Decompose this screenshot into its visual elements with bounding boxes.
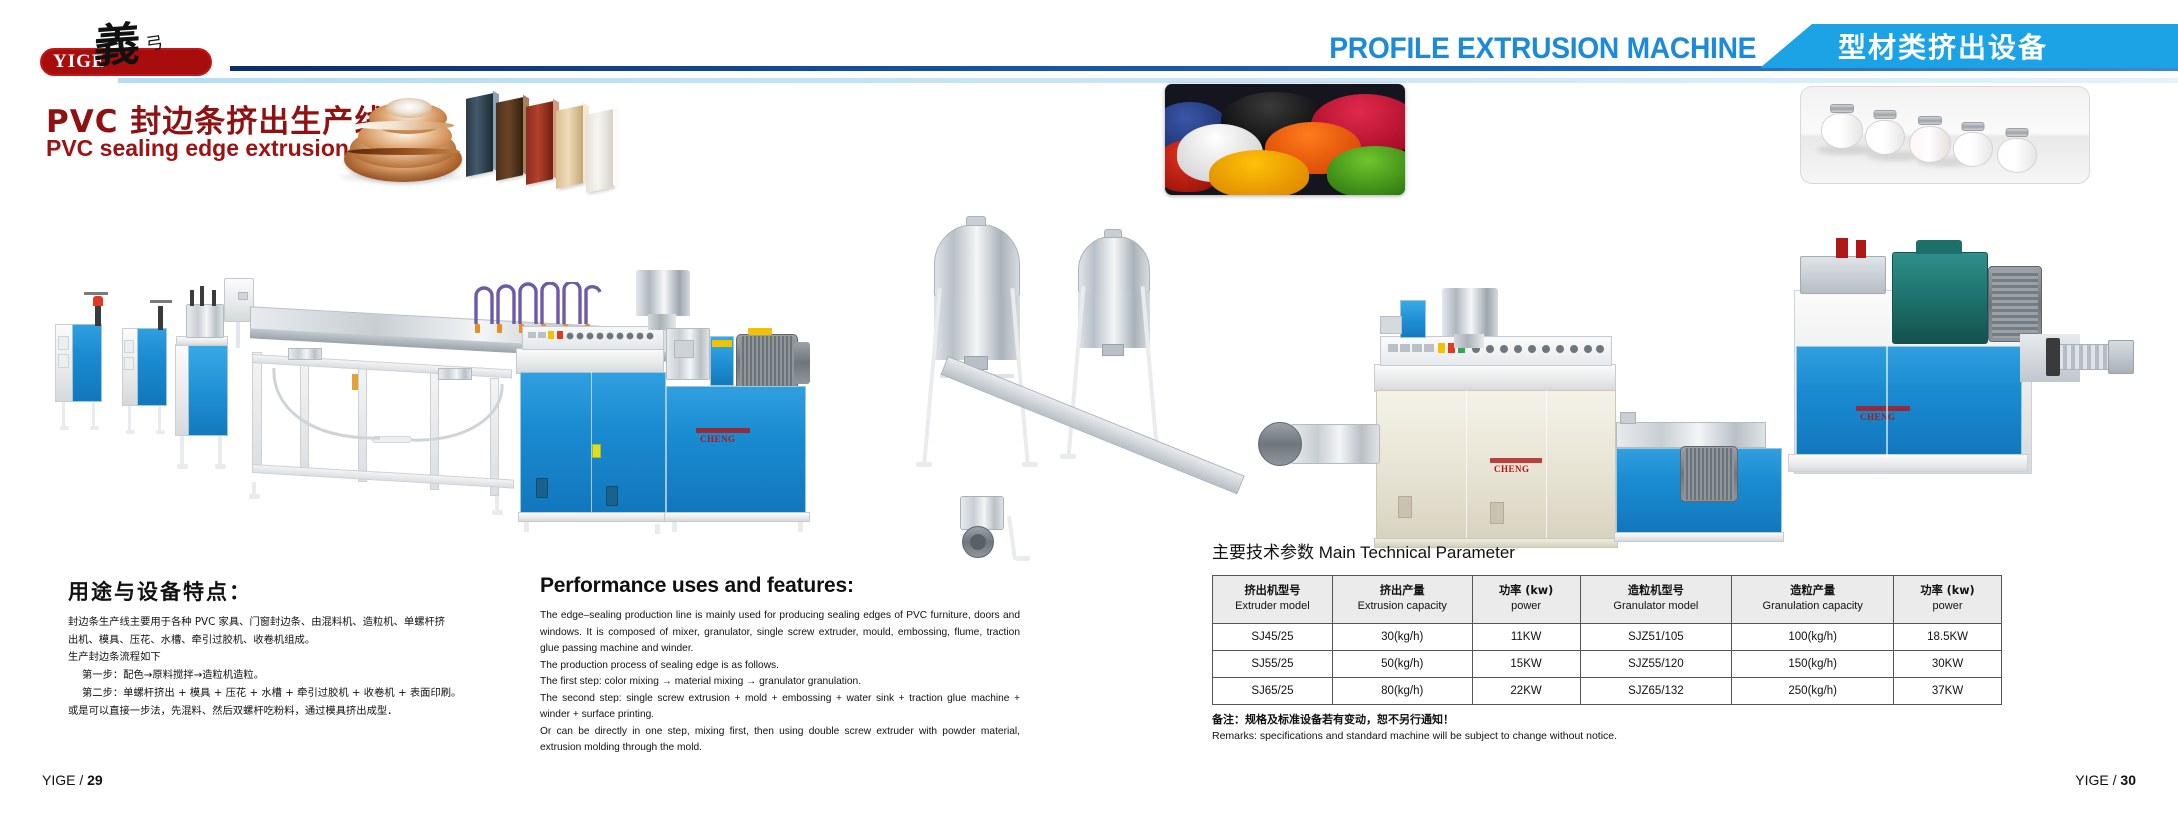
mixer-motor-fins <box>1992 270 2038 338</box>
extruder-feed-hopper <box>636 270 690 316</box>
silo-hopper-1-cone <box>934 296 1020 360</box>
pvc-edge-banding-rolls-and-boards-photo <box>336 88 646 193</box>
printing-roller-assembly <box>186 304 224 338</box>
uses-heading-chinese: 用途与设备特点： <box>68 576 518 606</box>
mixer-indicator-red-2 <box>1856 240 1866 258</box>
header-rule-light <box>118 78 2178 83</box>
header-category-tag-label: 型材类挤出设备 <box>1760 26 2048 66</box>
table-column-power-1: 功率 (kw)power <box>1472 576 1580 624</box>
uses-en-paragraph-3: The first step: color mixing → material … <box>540 674 1020 691</box>
cell-power-2: 18.5KW <box>1894 624 2002 651</box>
white-powder-jars-photo <box>1800 86 2090 184</box>
water-hose-left <box>268 366 388 450</box>
brand-mark-twin-screw: CHENG <box>1494 464 1530 474</box>
roller-shaft-3 <box>212 290 216 306</box>
mixer-motor-housing-teal <box>1892 252 1988 344</box>
cell-power-1: 15KW <box>1472 651 1580 678</box>
footer-left-brand: YIGE / <box>42 772 87 788</box>
roller-shaft-2 <box>200 286 204 306</box>
control-panel-knob-row <box>526 330 660 346</box>
twin-feeder-motor-box <box>1380 316 1402 334</box>
extruder-control-panel-top <box>516 348 664 374</box>
cell-granulator-model: SJZ65/132 <box>1580 678 1732 705</box>
flume-frame-leg-1 <box>252 352 262 470</box>
table-column-granulation-capacity: 造粒产量Granulation capacity <box>1732 576 1894 624</box>
twin-screw-feed-hopper <box>1442 288 1498 336</box>
roller-shaft-1 <box>190 290 194 306</box>
table-column-extrusion-capacity: 挤出产量Extrusion capacity <box>1332 576 1472 624</box>
table-row: SJ65/25 80(kg/h) 22KW SJZ65/132 250(kg/h… <box>1213 678 2002 705</box>
mixer-base-plinth <box>1788 454 2028 472</box>
twin-screw-panel-controls <box>1386 342 1606 362</box>
board-samples-group <box>466 96 638 184</box>
spec-title-english: Main Technical Parameter <box>1319 543 1515 562</box>
board-sample-1 <box>466 93 493 177</box>
pvc-sealing-edge-extrusion-production-line-illustration: CHENG <box>0 196 2178 541</box>
cabinet-vent-3 <box>124 340 134 353</box>
conveyor-drive-housing <box>960 496 1004 530</box>
logo-cjk-glyph: 義 <box>93 20 141 69</box>
company-logo: YIGE 義 弓 <box>40 28 260 78</box>
tower-lamp-post-2 <box>158 306 163 330</box>
twin-cabinet-door-split-2 <box>1546 390 1547 540</box>
mixer-discharge-bellows <box>2058 344 2110 370</box>
coupling-warning-stripe <box>712 340 732 347</box>
board-sample-5 <box>586 109 613 193</box>
cell-extrusion-capacity: 80(kg/h) <box>1332 678 1472 705</box>
footer-right-page-number: 30 <box>2120 772 2136 788</box>
cabinet-vent-4 <box>124 357 134 370</box>
lamp-crossbar-1 <box>84 292 108 295</box>
uses-cn-line-2: 出机、模具、压花、水槽、牵引过胶机、收卷机组成。 <box>68 632 518 650</box>
cell-granulation-capacity: 250(kg/h) <box>1732 678 1894 705</box>
silo-hopper-1-lid <box>966 216 986 226</box>
silo-hopper-2-cone <box>1078 292 1150 348</box>
silo-hopper-1-barrel <box>934 224 1020 298</box>
uses-body-chinese: 封边条生产线主要用于各种 PVC 家具、门窗封边条、由混料机、造粒机、单螺杆挤 … <box>68 614 518 720</box>
lamp-crossbar-2 <box>150 300 172 303</box>
board-sample-2 <box>496 97 523 181</box>
cell-power-2: 37KW <box>1894 678 2002 705</box>
tape-coil-core <box>386 98 432 118</box>
motor-nameplate <box>748 328 772 335</box>
remarks-block: 备注：规格及标准设备若有变动，恕不另行通知！ Remarks: specific… <box>1212 712 2042 744</box>
flume-frame-rail-bottom <box>252 464 514 489</box>
technical-parameter-section: 主要技术参数 Main Technical Parameter 挤出机型号Ext… <box>1212 538 2042 744</box>
footer-left-page-number: 29 <box>87 772 103 788</box>
table-column-granulator-model: 造粒机型号Granulator model <box>1580 576 1732 624</box>
cabinet-door-split <box>591 372 592 514</box>
twin-feeder-box <box>1400 300 1426 338</box>
remark-english: Remarks: specifications and standard mac… <box>1212 729 2042 745</box>
control-box-post <box>236 322 240 348</box>
brand-underline-1 <box>696 428 750 433</box>
cabinet-vent-2 <box>58 354 69 368</box>
twin-gearbox <box>1290 424 1380 464</box>
cell-granulation-capacity: 150(kg/h) <box>1732 651 1894 678</box>
cooling-pipe-loops-icon <box>470 282 606 324</box>
cell-extrusion-capacity: 50(kg/h) <box>1332 651 1472 678</box>
uses-en-paragraph-1: The edge–sealing production line is main… <box>540 608 1020 658</box>
mixer-discharge-clamp <box>2046 338 2060 376</box>
tape-strand-white <box>354 121 454 130</box>
twin-cabinet-door-split-1 <box>1466 390 1467 540</box>
cabinet-louvre-1 <box>536 478 548 498</box>
brand-mark-mixer: CHENG <box>1860 412 1896 422</box>
printing-unit-frame-left <box>175 344 189 436</box>
traction-roller-1 <box>288 348 322 360</box>
cell-granulator-model: SJZ51/105 <box>1580 624 1732 651</box>
embossing-unit-cooling-pipes <box>470 282 606 324</box>
twin-hopper-throat <box>1454 334 1484 348</box>
traction-roller-2 <box>438 368 472 380</box>
lower-content: 用途与设备特点： 封边条生产线主要用于各种 PVC 家具、门窗封边条、由混料机、… <box>0 552 2178 767</box>
cell-extruder-model: SJ45/25 <box>1213 624 1333 651</box>
board-sample-3 <box>526 101 553 185</box>
board-sample-4 <box>556 105 583 189</box>
granule-pile-yellow <box>1209 150 1309 195</box>
uses-en-paragraph-5: Or can be directly in one step, mixing f… <box>540 724 1020 757</box>
cell-power-1: 11KW <box>1472 624 1580 651</box>
uses-heading-english: Performance uses and features: <box>540 574 1020 598</box>
cell-extruder-model: SJ55/25 <box>1213 651 1333 678</box>
brand-underline-3 <box>1856 406 1910 411</box>
silo-hopper-2-lid <box>1104 229 1122 238</box>
cell-extruder-model: SJ65/25 <box>1213 678 1333 705</box>
extruder-base-plinth <box>518 512 668 522</box>
mixer-cabinet-split <box>1886 346 1888 458</box>
powder-jar-2 <box>1865 115 1905 155</box>
uses-en-paragraph-2: The production process of sealing edge i… <box>540 658 1020 675</box>
powder-jar-4 <box>1953 127 1993 167</box>
silo-hopper-2-barrel <box>1078 236 1150 294</box>
technical-parameter-title: 主要技术参数 Main Technical Parameter <box>1212 538 2042 563</box>
cabinet-louvre-2 <box>606 486 618 506</box>
inclined-screw-conveyor <box>941 356 1245 494</box>
uses-cn-line-6: 或是可以直接一步法，先混料、然后双螺杆吃粉料，通过模具挤出成型． <box>68 703 518 721</box>
colored-pvc-granules-photo <box>1165 84 1405 195</box>
gearbox-inspection-plate <box>674 340 694 358</box>
cabinet-vent-1 <box>58 336 69 350</box>
cell-extrusion-capacity: 30(kg/h) <box>1332 624 1472 651</box>
table-column-extruder-model: 挤出机型号Extruder model <box>1213 576 1333 624</box>
conveyor-motor-hub <box>970 534 986 550</box>
winder-control-cabinet-2 <box>137 328 167 406</box>
motor-fan-cowl <box>794 342 810 384</box>
surface-printing-unit-body <box>188 344 228 436</box>
mixer-top-cover <box>1800 256 1886 294</box>
uses-cn-line-3: 生产封边条流程如下 <box>68 649 518 667</box>
barrel-vent-port <box>1620 412 1636 424</box>
extruder-drive-cabinet <box>666 386 806 514</box>
tape-coil-shadow <box>340 172 464 182</box>
table-row: SJ45/25 30(kg/h) 11KW SJZ51/105 100(kg/h… <box>1213 624 2002 651</box>
winder-control-cabinet-1 <box>72 324 102 402</box>
motor-cooling-fins <box>740 336 794 390</box>
remark-chinese: 备注：规格及标准设备若有变动，恕不另行通知！ <box>1212 712 2042 729</box>
table-column-power-2: 功率 (kw)power <box>1894 576 2002 624</box>
water-hose-right <box>410 382 506 452</box>
mixer-discharge-valve <box>2108 340 2134 374</box>
uses-section-english: Performance uses and features: The edge–… <box>540 574 1020 757</box>
brand-underline-2 <box>1490 458 1542 463</box>
header-category-tag: 型材类挤出设备 <box>1760 24 2178 68</box>
powder-jar-1 <box>1821 109 1863 149</box>
uses-en-paragraph-4: The second step: single screw extrusion … <box>540 691 1020 724</box>
footer-right: YIGE / 30 <box>2075 772 2136 788</box>
powder-jar-5 <box>1997 133 2037 173</box>
uses-section-chinese: 用途与设备特点： 封边条生产线主要用于各种 PVC 家具、门窗封边条、由混料机、… <box>68 576 518 720</box>
twin-cabinet-louvre-2 <box>1490 502 1504 524</box>
spec-title-chinese: 主要技术参数 <box>1212 543 1314 563</box>
twin-screw-panel-top <box>1374 364 1616 392</box>
twin-screw-barrel <box>1616 422 1766 448</box>
uses-cn-line-4: 第一步：配色→原料搅拌→造粒机造粒。 <box>68 667 518 685</box>
mixer-motor-cap <box>1916 240 1962 254</box>
footer-left: YIGE / 29 <box>42 772 103 788</box>
tower-lamp-post-1 <box>95 304 101 326</box>
cell-power-1: 22KW <box>1472 678 1580 705</box>
uses-cn-line-5: 第二步：单螺杆挤出 + 模具 + 压花 + 水槽 + 牵引过胶机 + 收卷机 +… <box>68 685 518 703</box>
mixer-indicator-red-1 <box>1836 238 1848 258</box>
header-english-banner: PROFILE EXTRUSION MACHINE <box>1329 32 1756 66</box>
powder-jar-3 <box>1909 121 1951 163</box>
logo-cjk-secondary-glyph: 弓 <box>145 35 164 54</box>
footer-right-brand: YIGE / <box>2075 772 2120 788</box>
drive-cabinet-plinth <box>664 512 810 522</box>
uses-body-english: The edge–sealing production line is main… <box>540 608 1020 757</box>
warning-label-1 <box>592 444 601 458</box>
page-header: YIGE 義 弓 PROFILE EXTRUSION MACHINE 型材类挤出… <box>0 0 2178 86</box>
tape-strand-dark <box>348 148 460 155</box>
twin-motor-fins <box>1684 448 1734 500</box>
mixer-base-cabinet <box>1796 346 2022 458</box>
twin-cabinet-louvre-1 <box>1398 496 1412 518</box>
twin-drive-motor <box>1258 422 1302 466</box>
table-header-row: 挤出机型号Extruder model 挤出产量Extrusion capaci… <box>1213 576 2002 624</box>
signal-lamp-red-1 <box>93 296 103 306</box>
cell-granulation-capacity: 100(kg/h) <box>1732 624 1894 651</box>
cell-granulator-model: SJZ55/120 <box>1580 651 1732 678</box>
technical-parameter-table: 挤出机型号Extruder model 挤出产量Extrusion capaci… <box>1212 575 2002 705</box>
table-row: SJ55/25 50(kg/h) 15KW SJZ55/120 150(kg/h… <box>1213 651 2002 678</box>
uses-cn-line-1: 封边条生产线主要用于各种 PVC 家具、门窗封边条、由混料机、造粒机、单螺杆挤 <box>68 614 518 632</box>
brand-mark-extruder: CHENG <box>700 434 736 444</box>
silo-hopper-2-outlet <box>1102 344 1124 356</box>
cell-power-2: 30KW <box>1894 651 2002 678</box>
control-box-display <box>238 292 248 300</box>
